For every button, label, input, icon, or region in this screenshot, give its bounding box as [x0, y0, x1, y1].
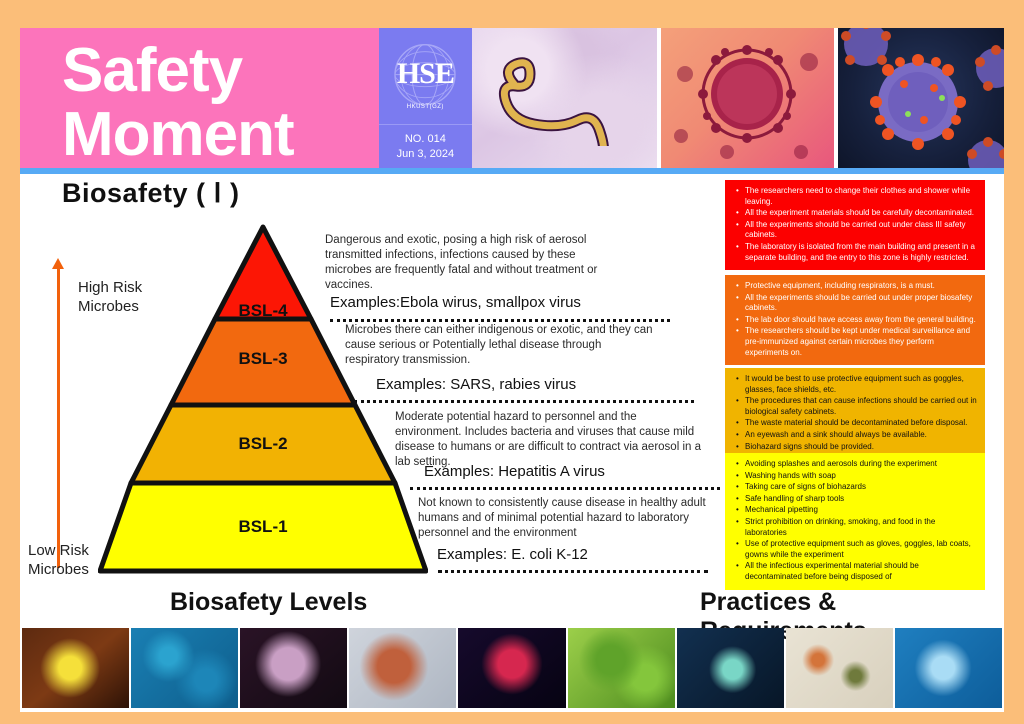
practice-item: All the experiments should be carried ou…	[745, 293, 977, 314]
header-image-coronavirus-coral	[661, 28, 833, 168]
hse-logo-block: HSE HKUST(GZ) NO. 014 Jun 3, 2024	[379, 28, 473, 168]
examples-rule-bsl4	[330, 319, 670, 322]
coronavirus-shape	[661, 28, 833, 168]
issue-date: Jun 3, 2024	[397, 147, 455, 162]
practice-item: Strict prohibition on drinking, smoking,…	[745, 517, 977, 538]
poster-header: Safety Moment HSE HKUST(GZ) NO. 014 Jun …	[20, 28, 1004, 168]
pyramid-label-bsl1: BSL-1	[203, 517, 323, 537]
pyramid-label-bsl3: BSL-3	[203, 349, 323, 369]
practice-item: Washing hands with soap	[745, 471, 977, 482]
risk-axis-low-label: Low Risk Microbes	[28, 541, 89, 579]
hse-logo-subtext: HKUST(GZ)	[379, 104, 473, 110]
examples-bsl4: Examples:Ebola wirus, smallpox virus	[330, 294, 581, 314]
practice-item: Safe handling of sharp tools	[745, 494, 977, 505]
page-title: Biosafety ( Ⅰ )	[62, 178, 240, 209]
ebola-filament-shape	[484, 54, 634, 146]
strip-image-mixed-microbes-photo	[786, 628, 893, 708]
examples-bsl2: Examples: Hepatitis A virus	[424, 463, 605, 483]
practice-item: All the experiments should be carried ou…	[745, 220, 977, 241]
practice-item: The laboratory is isolated from the main…	[745, 242, 977, 263]
practice-item: An eyewash and a sink should always be a…	[745, 430, 977, 441]
virus-particles-shape	[838, 28, 1004, 168]
practice-item: All the experiment materials should be c…	[745, 208, 977, 219]
header-title-block: Safety Moment	[20, 28, 379, 168]
pyramid-label-bsl2: BSL-2	[203, 434, 323, 454]
practice-item: Avoiding splashes and aerosols during th…	[745, 459, 977, 470]
strip-image-red-coronavirus-photo	[458, 628, 565, 708]
issue-info: NO. 014 Jun 3, 2024	[379, 125, 473, 168]
practice-item: The lab door should have access away fro…	[745, 315, 977, 326]
header-divider-bar	[20, 168, 1004, 174]
strip-image-flagellated-bacterium-photo	[677, 628, 784, 708]
risk-axis-arrow-icon	[57, 268, 60, 568]
strip-image-green-virus-photo	[568, 628, 675, 708]
strip-image-coronavirus-grey-photo	[349, 628, 456, 708]
practices-panel-bsl4: The researchers need to change their clo…	[725, 180, 985, 270]
bottom-image-strip	[22, 628, 1002, 708]
practice-item: The researchers need to change their clo…	[745, 186, 977, 207]
poster-canvas: Safety Moment HSE HKUST(GZ) NO. 014 Jun …	[20, 28, 1004, 712]
practices-panel-bsl3: Protective equipment, including respirat…	[725, 275, 985, 365]
practice-item: Protective equipment, including respirat…	[745, 281, 977, 292]
practice-item: All the infectious experimental material…	[745, 561, 977, 582]
header-image-ebola-virion-micrograph	[472, 28, 657, 168]
strip-image-blue-bacilli-photo	[895, 628, 1002, 708]
description-bsl1: Not known to consistently cause disease …	[418, 496, 708, 541]
issue-number: NO. 014	[405, 132, 446, 147]
strip-image-yellow-bacillus-photo	[22, 628, 129, 708]
strip-image-blue-virus-cluster-photo	[131, 628, 238, 708]
practice-item: Taking care of signs of biohazards	[745, 482, 977, 493]
practice-item: Use of protective equipment such as glov…	[745, 539, 977, 560]
practices-panel-bsl2: It would be best to use protective equip…	[725, 368, 985, 459]
header-image-virus-particles-navy	[838, 28, 1004, 168]
practice-item: Biohazard signs should be provided.	[745, 442, 977, 453]
hse-logo-text: HSE	[397, 59, 454, 89]
description-bsl4: Dangerous and exotic, posing a high risk…	[325, 233, 625, 293]
examples-bsl1: Examples: E. coli K-12	[437, 546, 588, 566]
hse-logo-emblem: HSE HKUST(GZ)	[379, 28, 473, 125]
poster-title-line2: Moment	[62, 104, 294, 166]
practice-item: The procedures that can cause infections…	[745, 396, 977, 417]
footer-heading-biosafety-levels: Biosafety Levels	[170, 588, 367, 617]
strip-image-pink-virion-photo	[240, 628, 347, 708]
description-bsl3: Microbes there can either indigenous or …	[345, 323, 655, 368]
examples-rule-bsl2	[410, 487, 720, 490]
practice-item: It would be best to use protective equip…	[745, 374, 977, 395]
description-bsl2: Moderate potential hazard to personnel a…	[395, 410, 705, 470]
practices-panel-bsl1: Avoiding splashes and aerosols during th…	[725, 453, 985, 590]
examples-rule-bsl3	[354, 400, 694, 403]
practice-item: Mechanical pipetting	[745, 505, 977, 516]
examples-bsl3: Examples: SARS, rabies virus	[376, 376, 576, 396]
examples-rule-bsl1	[438, 570, 708, 573]
practice-item: The waste material should be decontamina…	[745, 418, 977, 429]
practice-item: The researchers should be kept under med…	[745, 326, 977, 358]
poster-title-line1: Safety	[62, 40, 242, 102]
pyramid-label-bsl4: BSL-4	[203, 301, 323, 321]
